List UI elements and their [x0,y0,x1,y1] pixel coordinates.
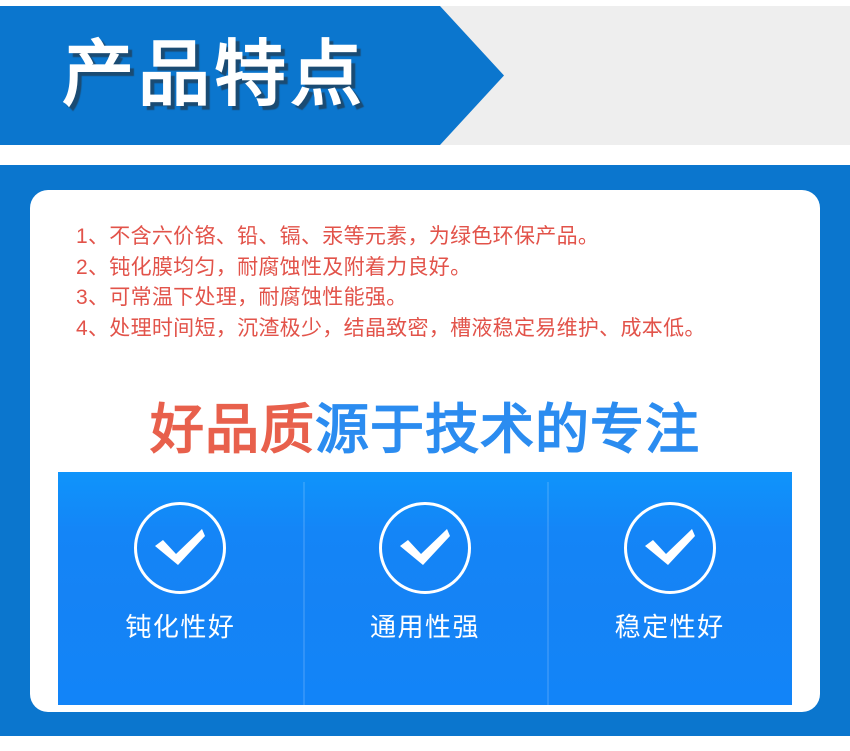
check-mark-icon [134,502,226,594]
slogan-part-red: 好品质 [150,400,315,460]
feature-list-item: 2、钝化膜均匀，耐腐蚀性及附着力良好。 [76,253,820,284]
header-banner: 产品特点 [0,6,850,145]
slogan-part-blue: 源于技术的专注 [315,400,700,460]
feature-list-item: 3、可常温下处理，耐腐蚀性能强。 [76,283,820,314]
benefits-panel: 钝化性好 通用性强 稳定性好 [58,472,792,705]
benefit-label: 稳定性好 [615,610,725,644]
check-mark-icon [379,502,471,594]
check-mark-icon [624,502,716,594]
benefit-label: 通用性强 [370,610,480,644]
benefit-column-1: 钝化性好 [58,472,303,705]
content-card: 1、不含六价铬、铅、镉、汞等元素，为绿色环保产品。 2、钝化膜均匀，耐腐蚀性及附… [30,190,820,712]
page-title: 产品特点 [62,27,366,123]
feature-list-item: 1、不含六价铬、铅、镉、汞等元素，为绿色环保产品。 [76,222,820,253]
feature-list-item: 4、处理时间短，沉渣极少，结晶致密，槽液稳定易维护、成本低。 [76,314,820,345]
feature-list: 1、不含六价铬、铅、镉、汞等元素，为绿色环保产品。 2、钝化膜均匀，耐腐蚀性及附… [76,222,820,344]
benefit-column-2: 通用性强 [303,472,548,705]
slogan-headline: 好品质源于技术的专注 [30,397,820,463]
benefit-label: 钝化性好 [125,610,235,644]
benefit-column-3: 稳定性好 [547,472,792,705]
product-features-page: 产品特点 1、不含六价铬、铅、镉、汞等元素，为绿色环保产品。 2、钝化膜均匀，耐… [0,0,850,751]
